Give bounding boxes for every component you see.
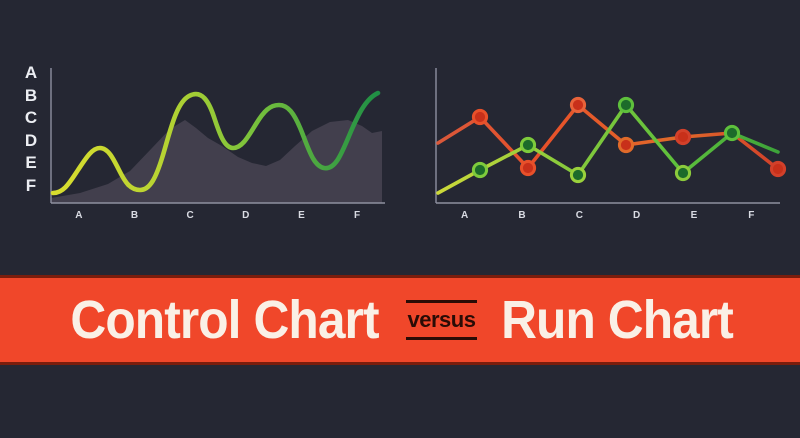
control-x-tick-4: E	[274, 208, 330, 224]
run-x-tick-3: D	[608, 208, 665, 224]
run-x-tick-0: A	[436, 208, 493, 224]
control-x-tick-1: B	[107, 208, 163, 224]
run-chart-plot	[400, 0, 800, 275]
banner-left-title: Control Chart	[70, 293, 378, 347]
run-chart-orange-marker	[676, 130, 689, 143]
run-chart-orange-marker	[521, 161, 534, 174]
banner-right-title: Run Chart	[502, 293, 734, 347]
run-chart-green-marker	[571, 168, 584, 181]
control-x-tick-2: C	[162, 208, 218, 224]
run-chart-x-axis-labels: A B C D E F	[436, 208, 780, 224]
run-chart-orange-marker	[571, 98, 584, 111]
run-chart-green-marker	[473, 163, 486, 176]
title-banner-inner: Control Chart versus Run Chart	[57, 293, 744, 347]
run-x-tick-1: B	[493, 208, 550, 224]
charts-strip: A B C D E F	[0, 0, 800, 275]
run-x-tick-5: F	[723, 208, 780, 224]
run-chart-panel: A B C D E F	[400, 0, 800, 275]
screenshot-canvas: A B C D E F	[0, 0, 800, 438]
run-chart-orange-marker	[473, 110, 486, 123]
control-chart-shaded-area	[51, 120, 382, 203]
control-chart-panel: A B C D E F	[0, 0, 400, 275]
run-chart-green-marker	[521, 138, 534, 151]
control-x-tick-5: F	[329, 208, 385, 224]
run-chart-orange-marker	[771, 162, 784, 175]
control-chart-plot	[0, 0, 400, 275]
control-x-tick-3: D	[218, 208, 274, 224]
run-chart-green-marker	[619, 98, 632, 111]
run-x-tick-2: C	[551, 208, 608, 224]
control-chart-x-axis-labels: A B C D E F	[51, 208, 385, 224]
banner-versus-label: versus	[406, 300, 478, 340]
run-chart-green-line	[438, 105, 778, 193]
run-chart-orange-marker	[619, 138, 632, 151]
run-x-tick-4: E	[665, 208, 722, 224]
run-chart-green-marker	[725, 126, 738, 139]
title-banner: Control Chart versus Run Chart	[0, 275, 800, 365]
control-x-tick-0: A	[51, 208, 107, 224]
run-chart-green-marker	[676, 166, 689, 179]
bottom-background-fill	[0, 365, 800, 438]
